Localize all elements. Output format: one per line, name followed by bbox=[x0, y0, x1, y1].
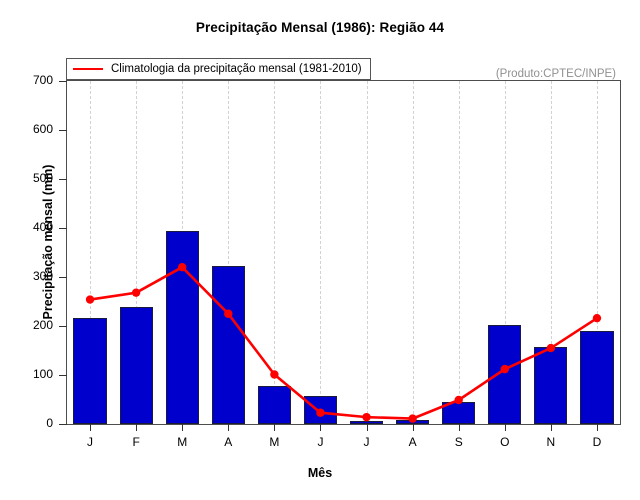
climatology-line-series bbox=[67, 81, 620, 424]
climatology-marker bbox=[178, 263, 186, 271]
legend-line-icon bbox=[73, 68, 103, 70]
y-tick bbox=[59, 326, 67, 327]
climatology-marker bbox=[593, 314, 601, 322]
climatology-polyline bbox=[90, 267, 597, 418]
y-tick bbox=[59, 179, 67, 180]
climatology-marker bbox=[316, 409, 324, 417]
x-tick-label: N bbox=[536, 435, 566, 449]
climatology-marker bbox=[455, 396, 463, 404]
y-tick bbox=[59, 228, 67, 229]
x-tick bbox=[413, 424, 414, 431]
x-tick bbox=[274, 424, 275, 431]
x-tick bbox=[551, 424, 552, 431]
y-tick-label: 100 bbox=[13, 367, 53, 381]
x-tick bbox=[228, 424, 229, 431]
climatology-marker bbox=[132, 288, 140, 296]
x-tick-label: M bbox=[167, 435, 197, 449]
y-tick bbox=[59, 277, 67, 278]
y-tick-label: 700 bbox=[13, 73, 53, 87]
y-tick-label: 0 bbox=[13, 416, 53, 430]
x-tick bbox=[505, 424, 506, 431]
x-tick-label: J bbox=[75, 435, 105, 449]
x-tick bbox=[320, 424, 321, 431]
precipitation-chart: Precipitação Mensal (1986): Região 44 Pr… bbox=[0, 0, 640, 500]
y-tick bbox=[59, 81, 67, 82]
climatology-marker bbox=[86, 295, 94, 303]
x-tick bbox=[367, 424, 368, 431]
climatology-marker bbox=[501, 365, 509, 373]
climatology-marker bbox=[270, 370, 278, 378]
product-attribution: (Produto:CPTEC/INPE) bbox=[496, 68, 616, 80]
y-axis-label: Precipitação mensal (mm) bbox=[41, 112, 55, 372]
x-tick bbox=[90, 424, 91, 431]
y-tick bbox=[59, 130, 67, 131]
y-tick bbox=[59, 424, 67, 425]
x-tick-label: A bbox=[398, 435, 428, 449]
x-tick-label: M bbox=[259, 435, 289, 449]
plot-area: 0100200300400500600700 JFMAMJJASOND bbox=[66, 80, 621, 425]
legend-label-climatology: Climatologia da precipitação mensal (198… bbox=[111, 63, 362, 75]
y-tick-label: 600 bbox=[13, 122, 53, 136]
y-tick-label: 400 bbox=[13, 220, 53, 234]
x-tick-label: O bbox=[490, 435, 520, 449]
x-tick-label: F bbox=[121, 435, 151, 449]
y-tick-label: 500 bbox=[13, 171, 53, 185]
x-tick bbox=[459, 424, 460, 431]
climatology-marker bbox=[224, 310, 232, 318]
climatology-marker bbox=[547, 344, 555, 352]
climatology-marker bbox=[362, 413, 370, 421]
y-tick-label: 200 bbox=[13, 318, 53, 332]
climatology-marker bbox=[408, 414, 416, 422]
x-tick bbox=[597, 424, 598, 431]
x-tick bbox=[136, 424, 137, 431]
x-axis-label: Mês bbox=[0, 466, 640, 480]
x-tick-label: J bbox=[352, 435, 382, 449]
x-tick-label: D bbox=[582, 435, 612, 449]
y-tick-label: 300 bbox=[13, 269, 53, 283]
x-tick-label: A bbox=[213, 435, 243, 449]
x-tick bbox=[182, 424, 183, 431]
y-tick bbox=[59, 375, 67, 376]
x-tick-label: J bbox=[305, 435, 335, 449]
x-tick-label: S bbox=[444, 435, 474, 449]
chart-title: Precipitação Mensal (1986): Região 44 bbox=[0, 20, 640, 35]
chart-legend: Climatologia da precipitação mensal (198… bbox=[66, 58, 371, 80]
